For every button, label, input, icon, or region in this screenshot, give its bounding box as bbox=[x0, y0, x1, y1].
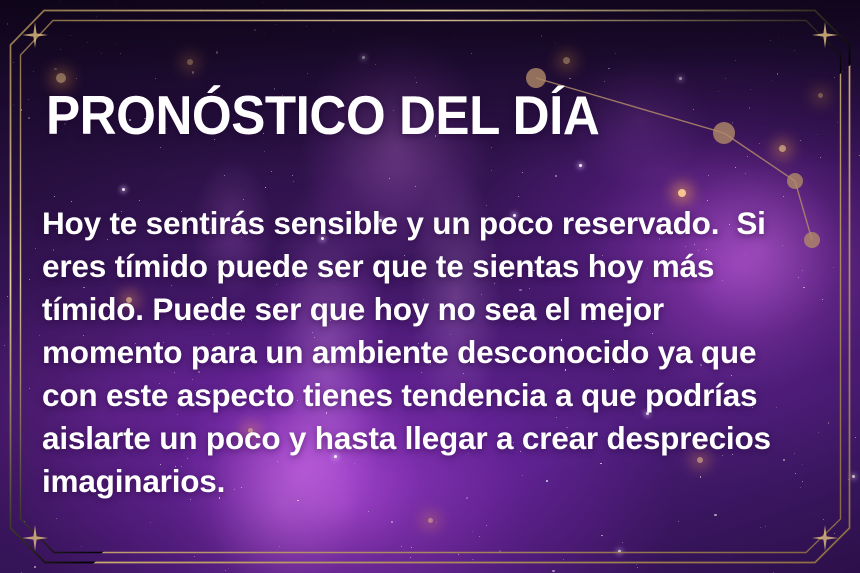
horoscope-card: PRONÓSTICO DEL DÍA Hoy te sentirás sensi… bbox=[0, 0, 860, 573]
horoscope-body-text: Hoy te sentirás sensible y un poco reser… bbox=[42, 202, 782, 503]
card-content: PRONÓSTICO DEL DÍA Hoy te sentirás sensi… bbox=[0, 0, 860, 573]
page-title: PRONÓSTICO DEL DÍA bbox=[46, 88, 599, 143]
